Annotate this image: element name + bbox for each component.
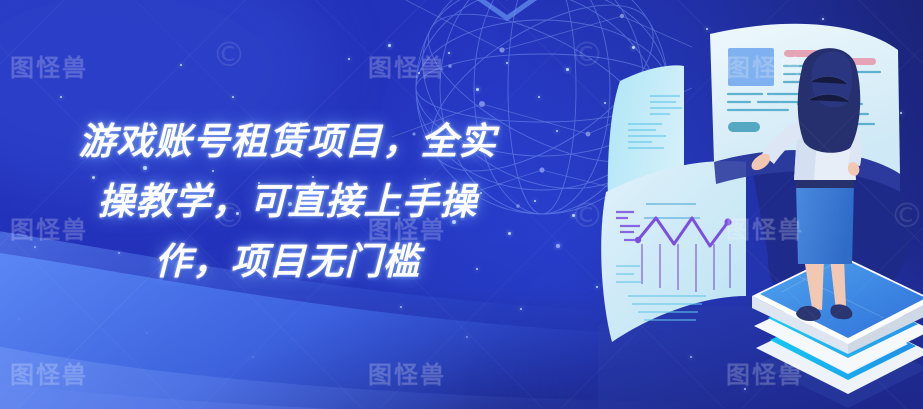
screen-image-block — [728, 48, 774, 86]
illustration-woman-dashboards — [598, 0, 923, 409]
page-title: 游戏账号租赁项目，全实 操教学，可直接上手操 作，项目无门槛 — [0, 112, 575, 292]
skirt — [796, 184, 854, 264]
banner-canvas: 游戏账号租赁项目，全实 操教学，可直接上手操 作，项目无门槛 图怪兽 图怪兽 图… — [0, 0, 923, 409]
title-line-2: 操教学，可直接上手操 — [0, 172, 575, 232]
title-line-3: 作，项目无门槛 — [0, 232, 575, 292]
title-line-1: 游戏账号租赁项目，全实 — [0, 112, 575, 172]
